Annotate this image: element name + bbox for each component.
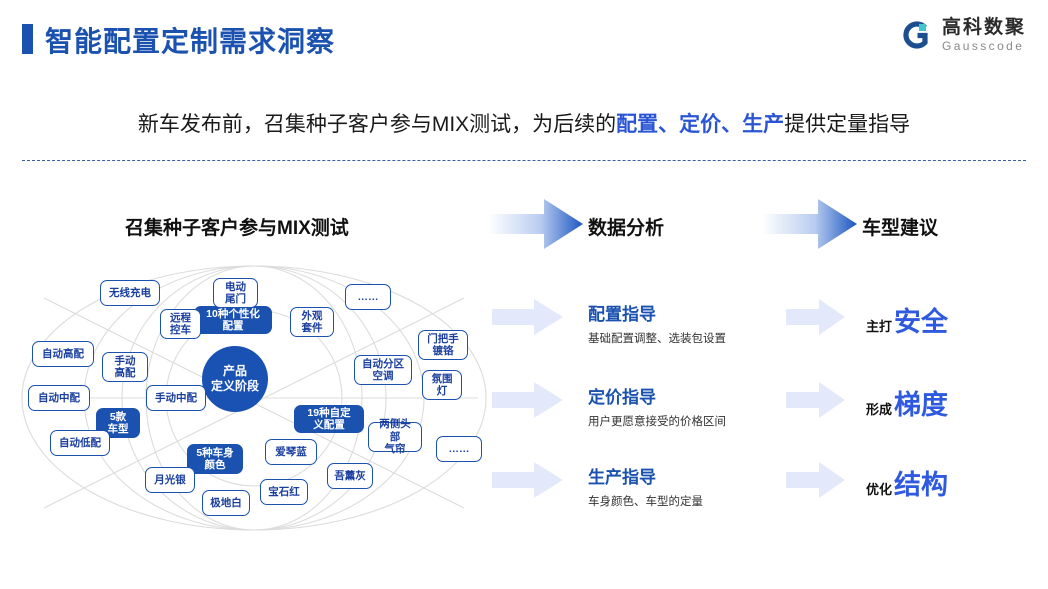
node-wireless-charging[interactable]: 无线充电: [100, 280, 160, 306]
row-arrow-diagram-config-icon: [492, 298, 564, 336]
node-auto-high-trim[interactable]: 自动高配: [32, 341, 94, 367]
subtitle-highlight: 配置、定价、生产: [616, 113, 784, 136]
analysis-title-pricing: 定价指导: [588, 383, 726, 408]
node-ellipsis-top[interactable]: ……: [345, 284, 391, 310]
gausscode-g-icon: [900, 18, 934, 52]
subtitle-part2: 提供定量指导: [784, 113, 910, 136]
row-arrow-config-safety-icon: [786, 298, 846, 336]
header-arrow-1-icon: [488, 198, 584, 250]
suggestion-keyword-safety: 安全: [894, 300, 948, 339]
suggestion-prefix-tier: 形成: [866, 399, 892, 418]
node-manual-mid-trim[interactable]: 手动中配: [146, 385, 206, 411]
node-dual-zone-ac[interactable]: 自动分区 空调: [354, 355, 412, 385]
subtitle: 新车发布前，召集种子客户参与MIX测试，为后续的配置、定价、生产提供定量指导: [0, 108, 1048, 138]
brand-logo: 高科数聚 Gausscode: [900, 18, 1026, 52]
page-title: 智能配置定制需求洞察: [45, 20, 335, 60]
column-header-mix-test: 召集种子客户参与MIX测试: [125, 213, 349, 240]
slide-header: 智能配置定制需求洞察 高科数聚 Gausscode: [0, 0, 1048, 78]
node-ruby-red[interactable]: 宝石红: [260, 479, 308, 505]
title-accent-bar: [22, 24, 33, 54]
node-chrome-door-handle[interactable]: 门把手 镀铬: [418, 330, 468, 360]
analysis-desc-production: 车身颜色、车型的定量: [588, 493, 703, 509]
node-ambient-light[interactable]: 氛围 灯: [422, 370, 462, 400]
row-arrow-diagram-pricing-icon: [492, 381, 564, 419]
suggestion-prefix-structure: 优化: [866, 479, 892, 498]
node-lavender-grey[interactable]: 吾薰灰: [327, 463, 373, 489]
analysis-title-config: 配置指导: [588, 300, 726, 325]
suggestion-item-structure: 优化 结构: [866, 463, 948, 502]
node-manual-high-trim[interactable]: 手动 高配: [102, 352, 148, 382]
row-arrow-production-structure-icon: [786, 461, 846, 499]
node-polar-white[interactable]: 极地白: [202, 490, 250, 516]
chip-5-body-colors[interactable]: 5种车身 颜色: [187, 444, 243, 474]
analysis-item-pricing: 定价指导 用户更愿意接受的价格区间: [588, 383, 726, 429]
logo-name-cn: 高科数聚: [942, 18, 1026, 37]
row-arrow-pricing-tier-icon: [786, 381, 846, 419]
chip-19-custom-configs[interactable]: 19种自定 义配置: [294, 405, 364, 433]
node-power-tailgate[interactable]: 电动 尾门: [213, 278, 258, 308]
node-moonlight-silver[interactable]: 月光银: [145, 467, 195, 493]
column-header-model-suggestion: 车型建议: [862, 213, 938, 240]
subtitle-part1: 新车发布前，召集种子客户参与MIX测试，为后续的: [138, 113, 616, 136]
suggestion-prefix-safety: 主打: [866, 316, 892, 335]
slide-root: 智能配置定制需求洞察 高科数聚 Gausscode 新车发布前，召集种子客户参与…: [0, 0, 1048, 589]
logo-text: 高科数聚 Gausscode: [942, 18, 1026, 52]
node-ellipsis-right[interactable]: ……: [436, 436, 482, 462]
logo-name-en: Gausscode: [942, 40, 1026, 52]
node-auto-low-trim[interactable]: 自动低配: [50, 430, 110, 456]
suggestion-keyword-tier: 梯度: [894, 383, 948, 422]
node-aegean-blue[interactable]: 爱琴蓝: [265, 439, 317, 465]
analysis-title-production: 生产指导: [588, 463, 703, 488]
analysis-item-config: 配置指导 基础配置调整、选装包设置: [588, 300, 726, 346]
analysis-item-production: 生产指导 车身颜色、车型的定量: [588, 463, 703, 509]
node-remote-control[interactable]: 远程 控车: [160, 309, 201, 339]
node-side-head-airbags[interactable]: 两侧头部 气帘: [368, 422, 422, 452]
header-arrow-2-icon: [762, 198, 858, 250]
suggestion-item-safety: 主打 安全: [866, 300, 948, 339]
row-arrow-diagram-production-icon: [492, 461, 564, 499]
column-header-data-analysis: 数据分析: [588, 213, 664, 240]
node-appearance-kit[interactable]: 外观 套件: [290, 307, 334, 337]
analysis-desc-config: 基础配置调整、选装包设置: [588, 330, 726, 346]
chip-10-personalized-configs[interactable]: 10种个性化 配置: [194, 306, 272, 334]
node-auto-mid-trim[interactable]: 自动中配: [28, 385, 90, 411]
suggestion-item-tier: 形成 梯度: [866, 383, 948, 422]
analysis-desc-pricing: 用户更愿意接受的价格区间: [588, 413, 726, 429]
product-definition-diagram: 产品 定义阶段 10种个性化 配置 19种自定 义配置 5款 车型 5种车身 颜…: [14, 258, 494, 538]
section-divider: [22, 160, 1026, 161]
diagram-center-node: 产品 定义阶段: [202, 346, 268, 412]
suggestion-keyword-structure: 结构: [894, 463, 948, 502]
